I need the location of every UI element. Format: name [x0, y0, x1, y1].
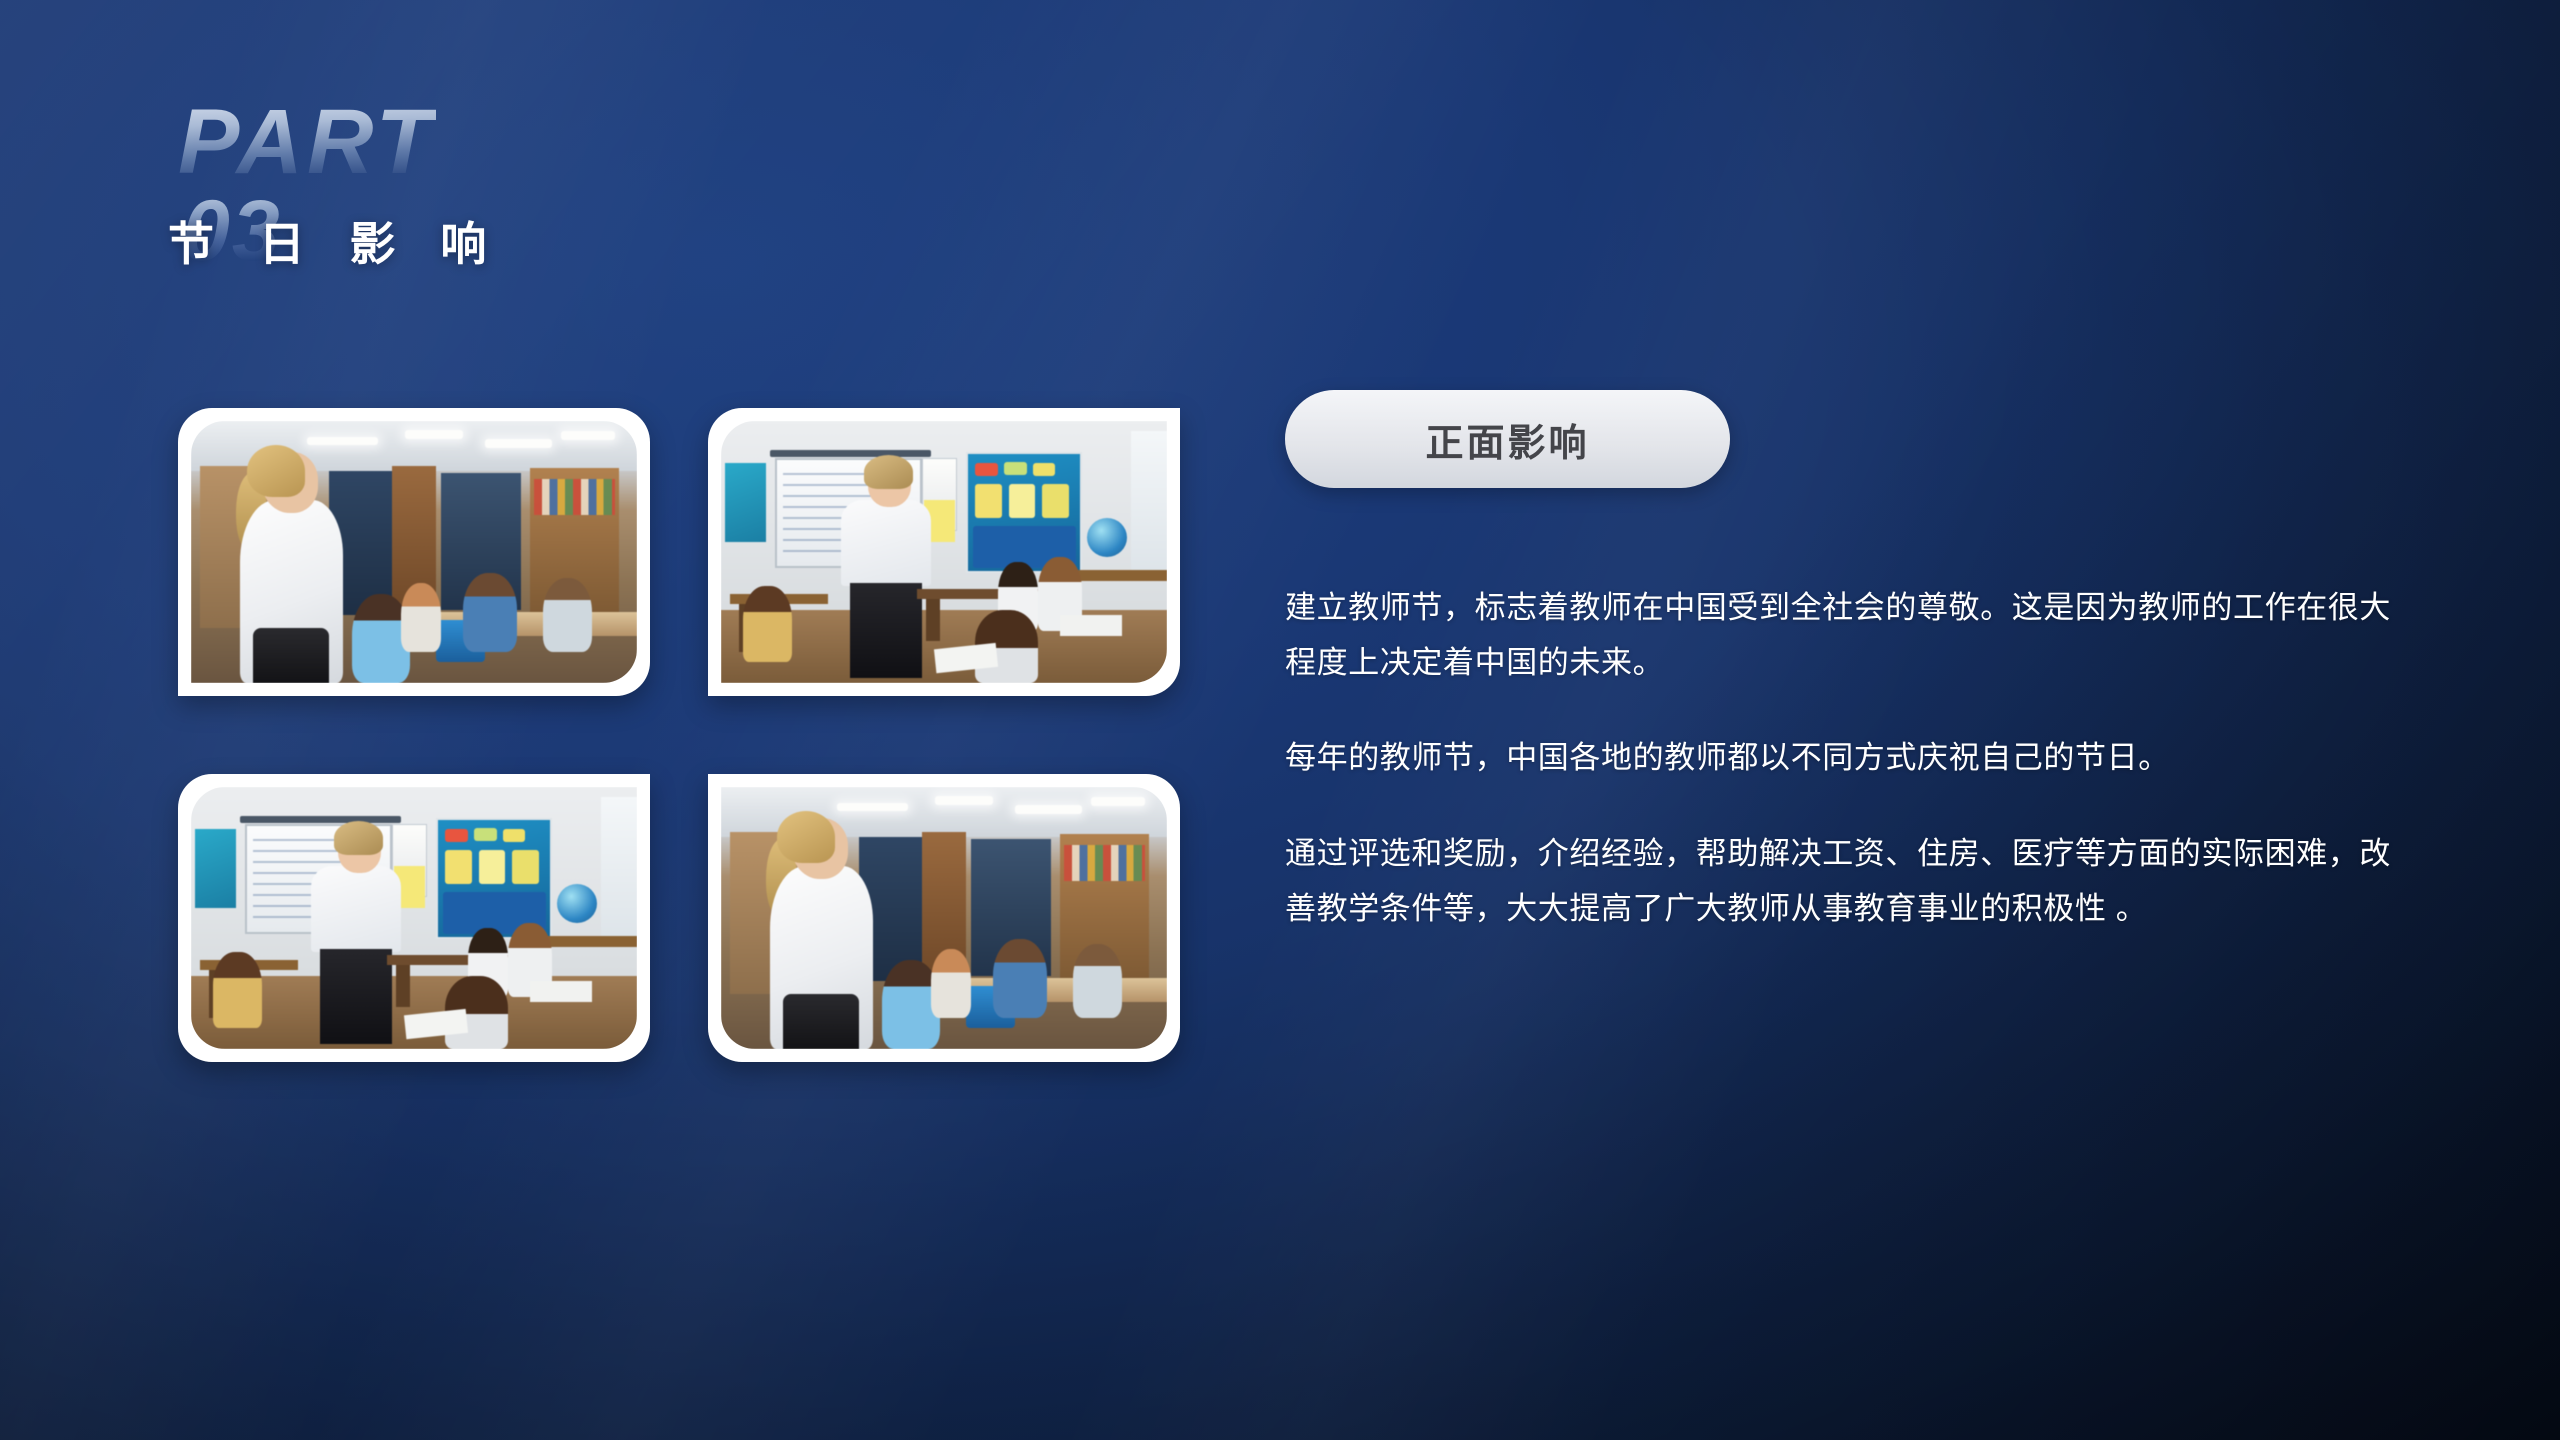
photo-image-3: [191, 787, 637, 1049]
paragraph-3: 通过评选和奖励，介绍经验，帮助解决工资、住房、医疗等方面的实际困难，改善教学条件…: [1285, 826, 2415, 936]
classroom-whiteboard-scene: [191, 787, 637, 1049]
photo-image-2: [721, 421, 1167, 683]
photo-frame-2[interactable]: [708, 408, 1180, 696]
photo-frame-3[interactable]: [178, 774, 650, 1062]
photo-image-4: [721, 787, 1167, 1049]
library-classroom-scene: [191, 421, 637, 683]
body-text-block: 建立教师节，标志着教师在中国受到全社会的尊敬。这是因为教师的工作在很大程度上决定…: [1285, 580, 2465, 936]
content-column: 正面影响 建立教师节，标志着教师在中国受到全社会的尊敬。这是因为教师的工作在很大…: [1285, 390, 2465, 936]
paragraph-2: 每年的教师节，中国各地的教师都以不同方式庆祝自己的节日。: [1285, 730, 2415, 785]
badge-label: 正面影响: [1425, 412, 1589, 467]
status-badge: 正面影响: [1285, 390, 1730, 488]
part-word: PART: [178, 96, 436, 188]
photo-gallery: [178, 408, 1188, 1098]
photo-image-1: [191, 421, 637, 683]
page-title: 节 日 影 响: [168, 208, 502, 274]
section-heading: 03 PART 节 日 影 响: [168, 96, 788, 256]
photo-frame-4[interactable]: [708, 774, 1180, 1062]
library-classroom-scene: [721, 787, 1167, 1049]
photo-frame-1[interactable]: [178, 408, 650, 696]
slide-root: 03 PART 节 日 影 响: [0, 0, 2560, 1440]
classroom-whiteboard-scene: [721, 421, 1167, 683]
paragraph-1: 建立教师节，标志着教师在中国受到全社会的尊敬。这是因为教师的工作在很大程度上决定…: [1285, 580, 2415, 690]
